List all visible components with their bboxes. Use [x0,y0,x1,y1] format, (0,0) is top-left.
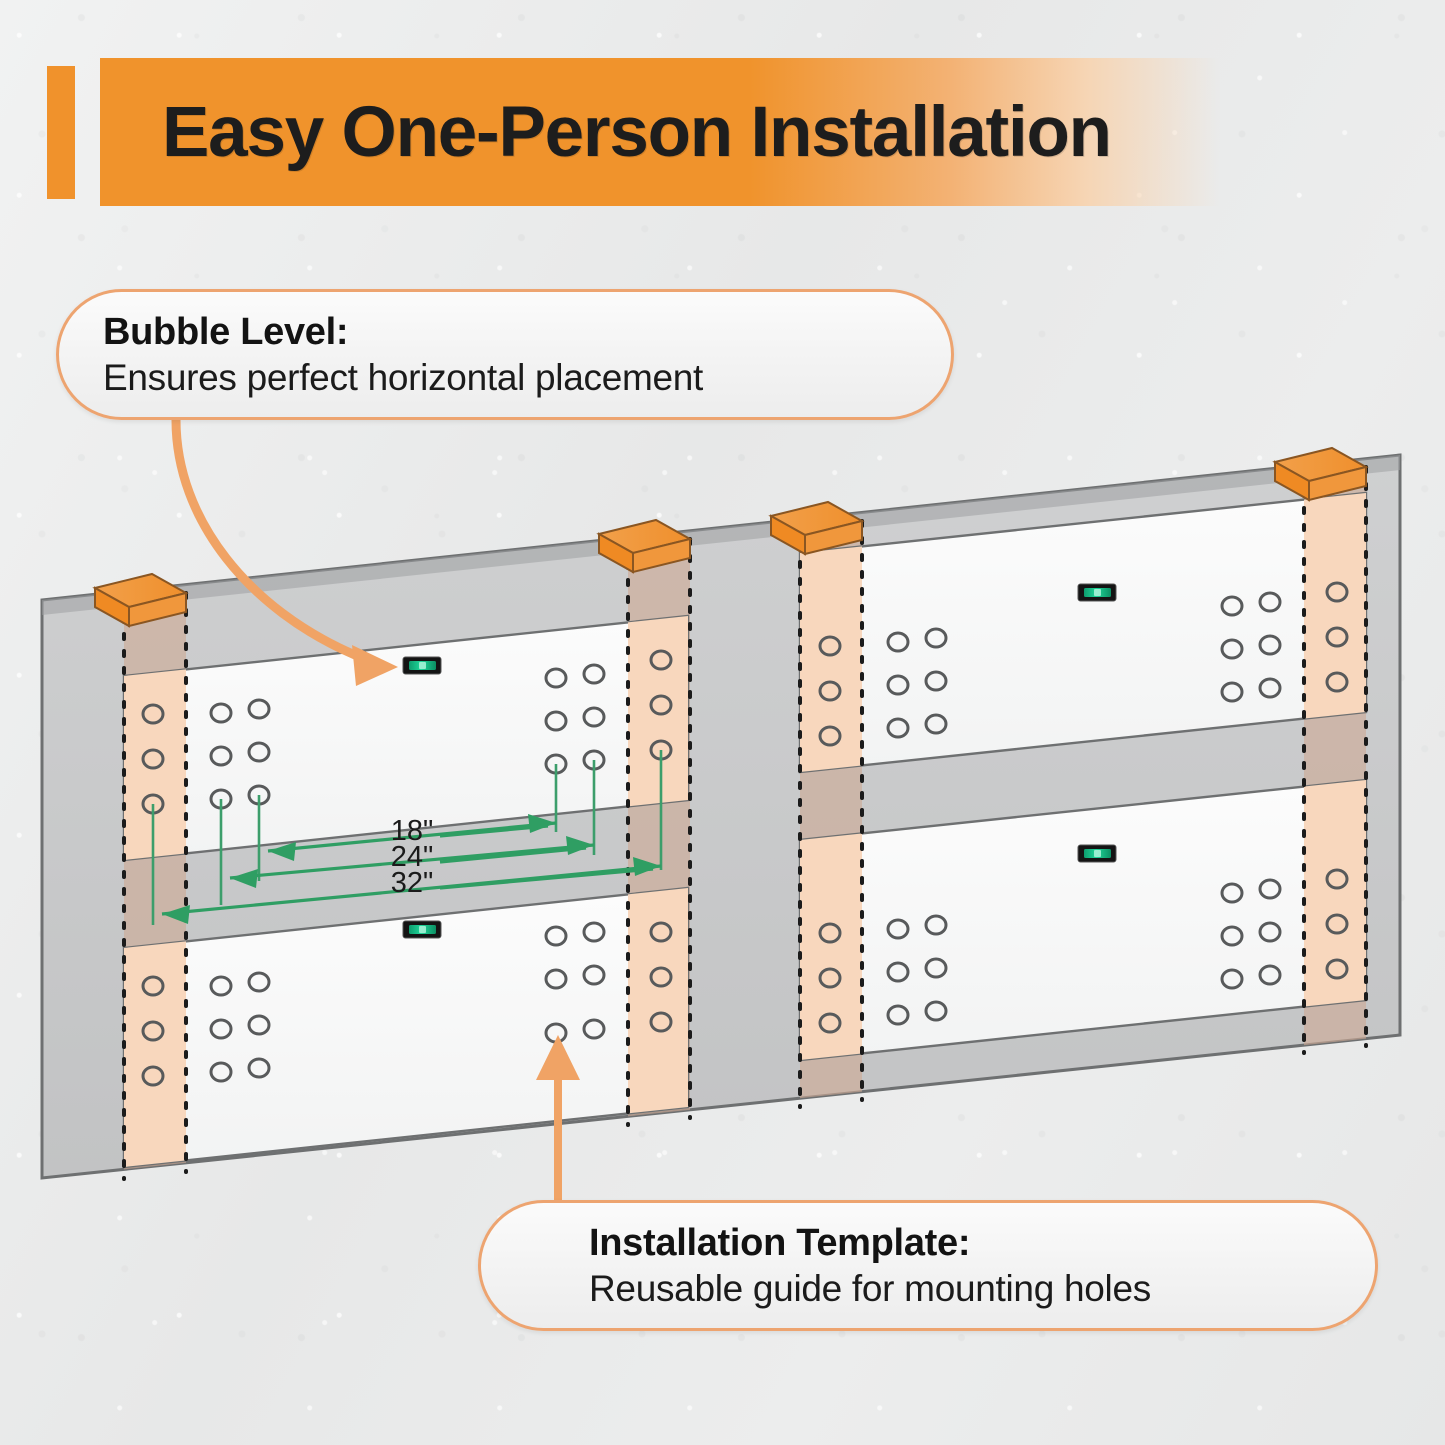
header-banner: Easy One-Person Installation [100,58,1220,206]
header-band: Easy One-Person Installation [0,58,1445,206]
callout-bubble-level-description: Ensures perfect horizontal placement [103,358,907,399]
svg-text:32": 32" [391,867,434,899]
callout-installation-template-title: Installation Template: [589,1223,1331,1263]
bubble-level [403,657,441,674]
callout-installation-template-description: Reusable guide for mounting holes [589,1269,1331,1310]
callout-bubble-level-title: Bubble Level: [103,312,907,352]
bubble-level [1078,584,1116,601]
callout-installation-template: Installation Template: Reusable guide fo… [478,1200,1378,1331]
callout-bubble-level: Bubble Level: Ensures perfect horizontal… [56,289,954,420]
bubble-level [403,921,441,938]
page-title: Easy One-Person Installation [162,92,1111,173]
bubble-level [1078,845,1116,862]
header-accent-bar [47,66,75,199]
